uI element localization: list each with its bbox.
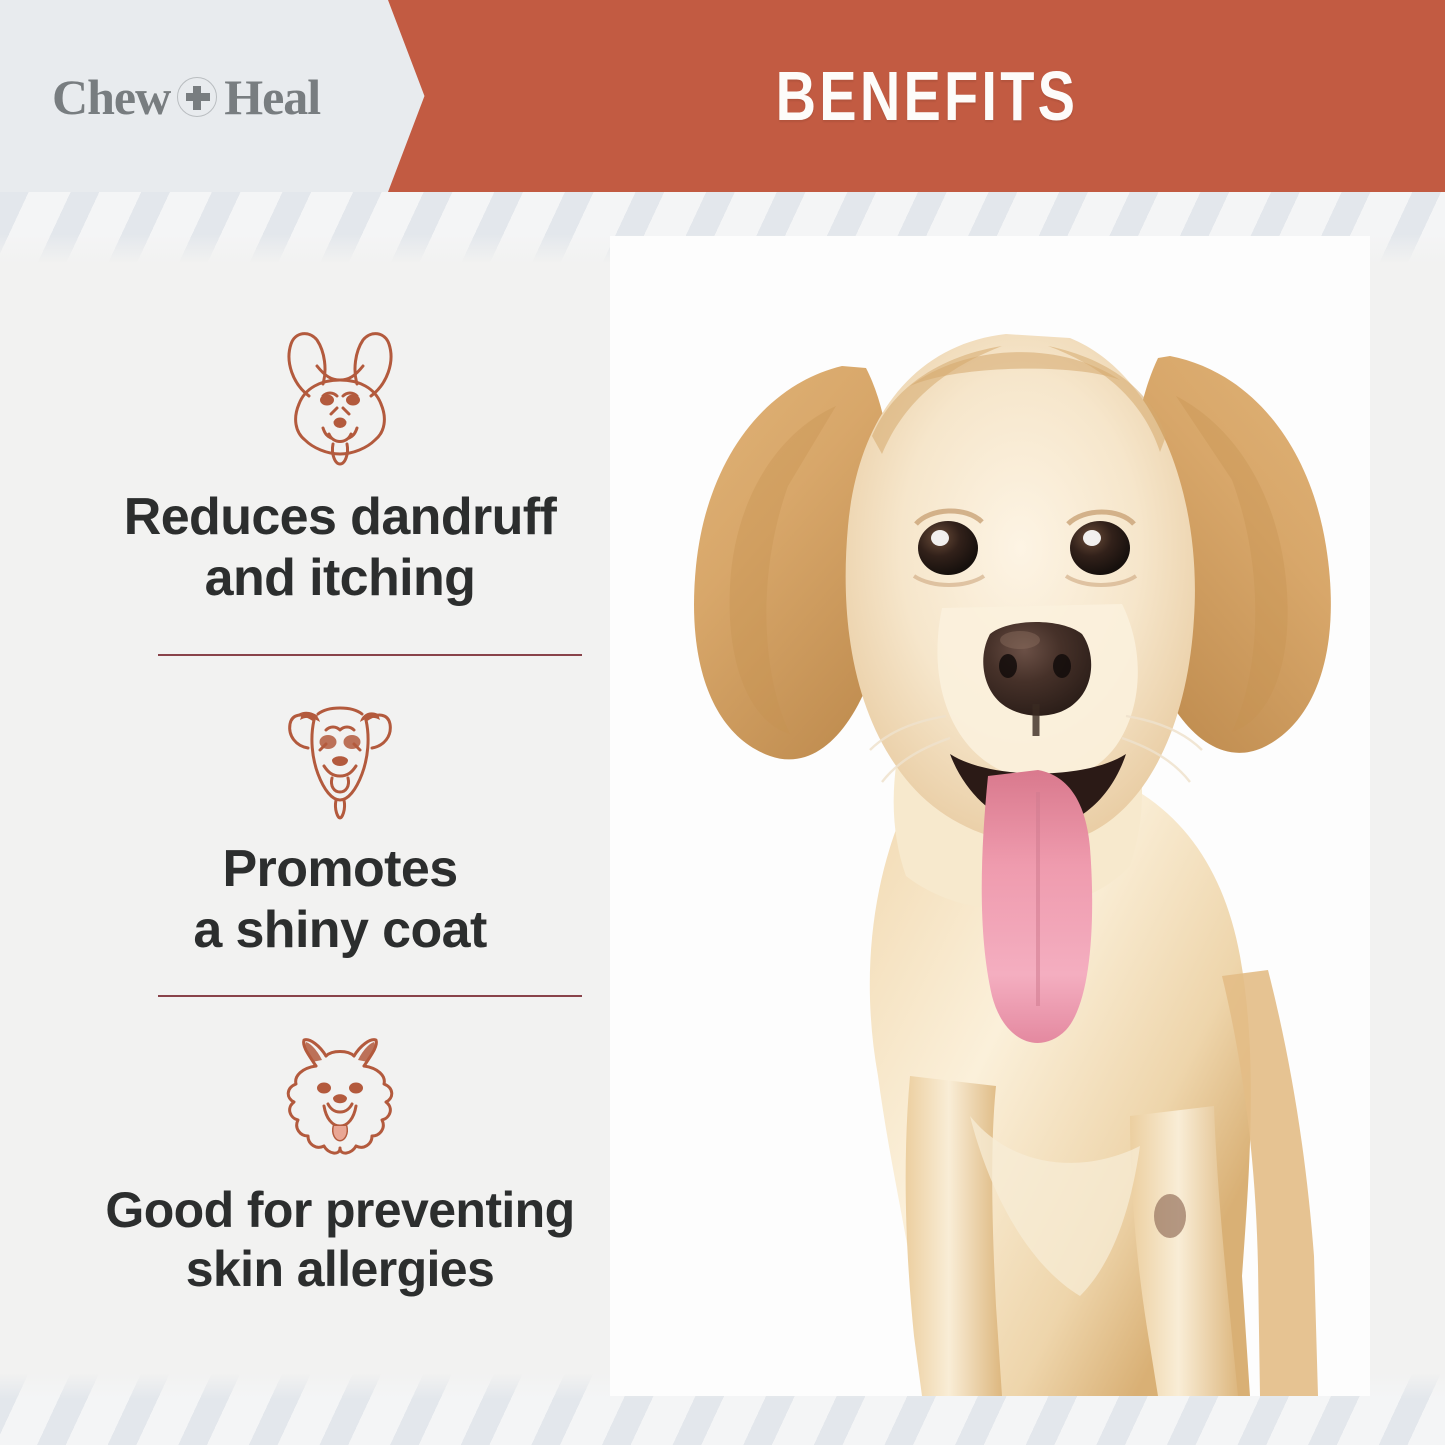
yellow-labrador-puppy-photo — [610, 236, 1370, 1396]
benefit-label: Promotes a shiny coat — [193, 839, 486, 962]
brand-logo: Chew Heal — [52, 62, 320, 132]
plus-circle-icon — [177, 77, 217, 117]
fluffy-dog-face-icon — [272, 1026, 408, 1167]
page-title: BENEFITS — [494, 0, 1340, 192]
benefit-item: Good for preventing skin allergies — [30, 1026, 650, 1299]
benefit-item: Reduces dandruff and itching — [30, 318, 650, 610]
logo-word-chew: Chew — [52, 72, 170, 122]
infographic-page: BENEFITS Chew Heal — [0, 0, 1445, 1445]
benefit-divider — [158, 654, 582, 656]
benefit-label: Reduces dandruff and itching — [124, 487, 556, 610]
benefit-label: Good for preventing skin allergies — [105, 1181, 574, 1299]
corgi-dog-face-icon — [265, 318, 415, 473]
header-bar: BENEFITS Chew Heal — [0, 0, 1445, 192]
benefit-divider — [158, 995, 582, 997]
benefits-list: Reduces dandruff and itching — [30, 296, 650, 1336]
terrier-dog-face-icon — [270, 680, 410, 825]
benefit-item: Promotes a shiny coat — [30, 680, 650, 962]
benefits-banner: BENEFITS — [388, 0, 1445, 192]
logo-word-heal: Heal — [224, 72, 320, 122]
